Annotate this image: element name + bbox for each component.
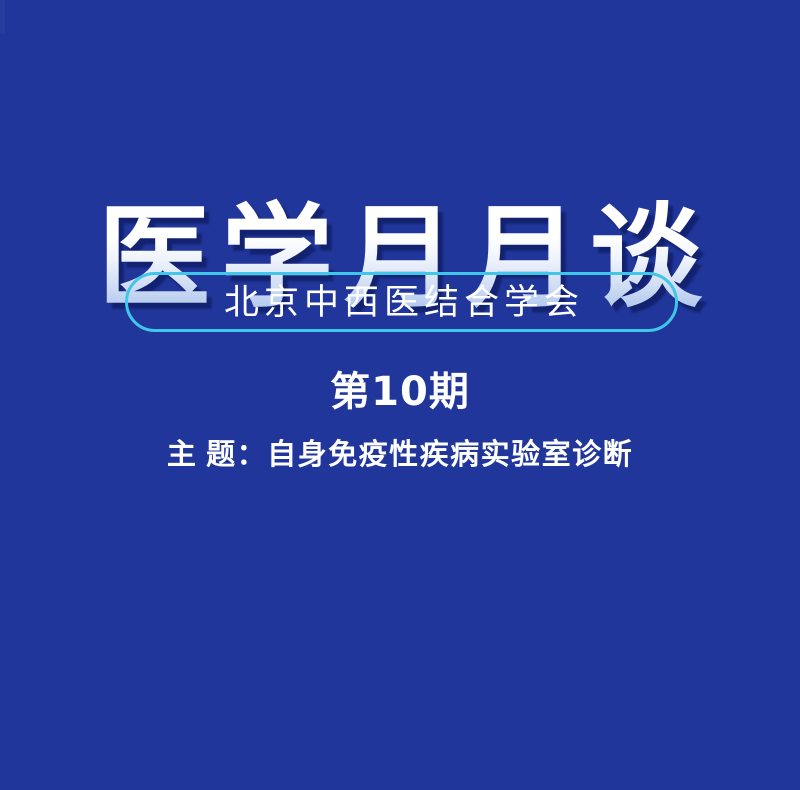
issue-number: 第10期: [0, 372, 800, 412]
poster-canvas: 医学月月谈 北京中西医结合学会 第10期 主 题：自身免疫性疾病实验室诊断: [0, 0, 800, 790]
topic-line: 主 题：自身免疫性疾病实验室诊断: [0, 441, 800, 470]
society-name: 北京中西医结合学会: [219, 285, 584, 320]
lower-empty-field: [0, 500, 800, 790]
society-capsule: 北京中西医结合学会: [125, 272, 678, 332]
edge-artifact: [0, 0, 5, 34]
